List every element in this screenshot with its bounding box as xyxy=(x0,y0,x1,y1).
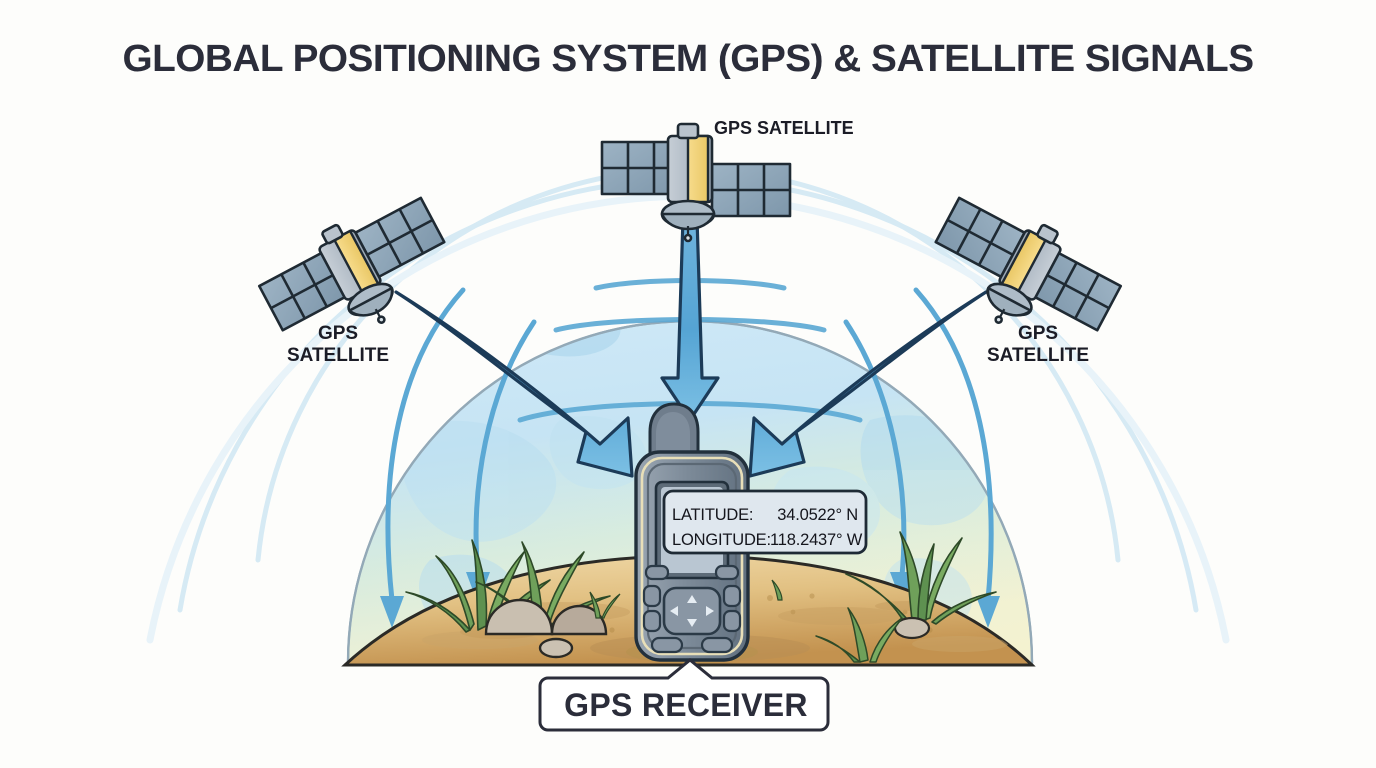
satellite-label-left: GPS SATELLITE xyxy=(268,323,408,368)
satellite-body-top xyxy=(668,124,712,202)
latitude-label: LATITUDE: xyxy=(672,503,770,528)
diagram-canvas: GLOBAL POSITIONING SYSTEM (GPS) & SATELL… xyxy=(0,0,1376,768)
longitude-value: 118.2437° W xyxy=(770,528,858,553)
page-title: GLOBAL POSITIONING SYSTEM (GPS) & SATELL… xyxy=(0,38,1376,81)
latitude-value: 34.0522° N xyxy=(770,503,858,528)
satellite-top[interactable] xyxy=(602,124,790,241)
longitude-row: LONGITUDE:118.2437° W xyxy=(672,528,858,553)
latitude-row: LATITUDE:34.0522° N xyxy=(672,503,858,528)
coordinate-readout: LATITUDE:34.0522° N LONGITUDE:118.2437° … xyxy=(672,503,858,553)
solar-panel-right-top xyxy=(712,164,790,216)
satellites-layer xyxy=(0,0,1376,768)
longitude-label: LONGITUDE: xyxy=(672,528,770,553)
satellite-label-right: GPS SATELLITE xyxy=(968,323,1108,368)
dish-antenna-top xyxy=(662,201,714,241)
satellite-label-top: GPS SATELLITE xyxy=(714,118,854,139)
receiver-caption: GPS RECEIVER xyxy=(546,680,826,730)
